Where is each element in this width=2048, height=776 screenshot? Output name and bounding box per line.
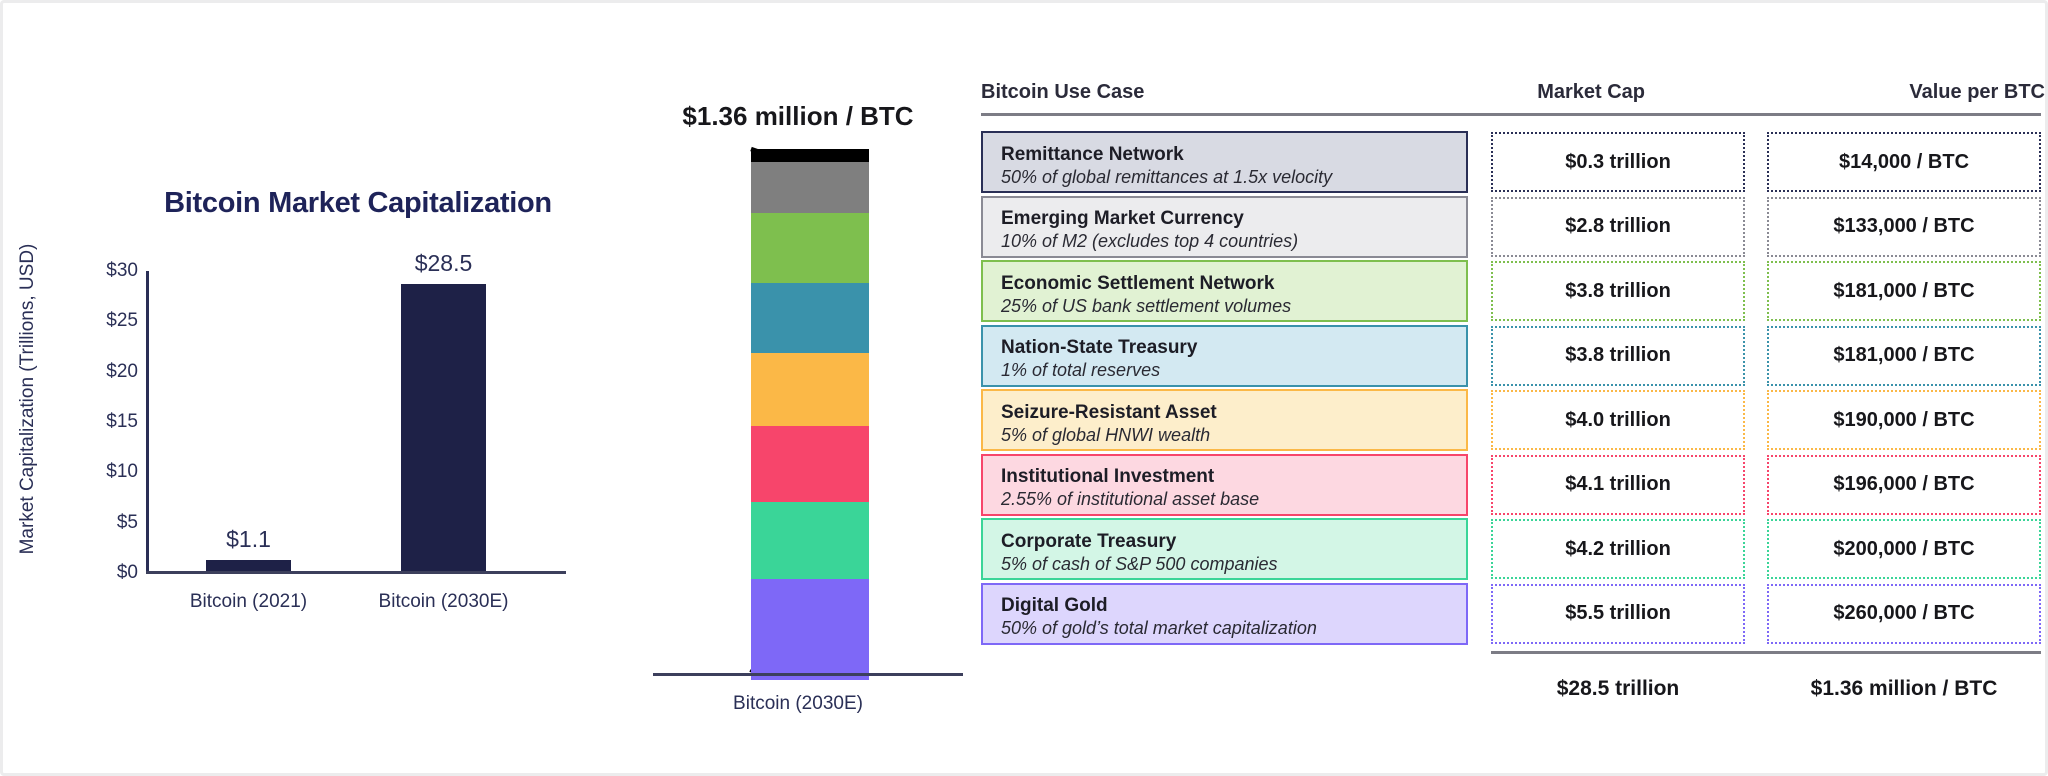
use-case-cell[interactable]: Seizure-Resistant Asset5% of global HNWI… <box>981 389 1468 451</box>
bar-1 <box>206 560 291 571</box>
y-tick-label: $25 <box>78 310 138 332</box>
table-row[interactable]: Nation-State Treasury1% of total reserve… <box>973 325 2048 387</box>
use-case-title: Corporate Treasury <box>1001 531 1466 552</box>
value-per-btc-cell: $14,000 / BTC <box>1767 132 2041 192</box>
market-cap-cell: $4.2 trillion <box>1491 519 1745 579</box>
use-case-subtitle: 25% of US bank settlement volumes <box>1001 296 1466 317</box>
table-row[interactable]: Economic Settlement Network25% of US ban… <box>973 260 2048 322</box>
use-case-title: Digital Gold <box>1001 595 1466 616</box>
use-case-subtitle: 50% of gold’s total market capitalizatio… <box>1001 618 1466 639</box>
value-per-btc-cell: $260,000 / BTC <box>1767 584 2041 644</box>
bar-2 <box>401 284 486 571</box>
table-header-use-case: Bitcoin Use Case <box>981 81 1144 104</box>
use-case-cell[interactable]: Corporate Treasury5% of cash of S&P 500 … <box>981 518 1468 580</box>
table-row[interactable]: Remittance Network50% of global remittan… <box>973 131 2048 193</box>
value-per-btc-cell: $181,000 / BTC <box>1767 326 2041 386</box>
stack-segment-8 <box>751 579 869 680</box>
value-per-btc-cell: $190,000 / BTC <box>1767 390 2041 450</box>
use-case-cell[interactable]: Institutional Investment2.55% of institu… <box>981 454 1468 516</box>
market-cap-cell: $2.8 trillion <box>1491 197 1745 257</box>
use-case-subtitle: 1% of total reserves <box>1001 360 1466 381</box>
market-cap-cell: $3.8 trillion <box>1491 261 1745 321</box>
y-axis-label: Market Capitalization (Trillions, USD) <box>17 189 39 609</box>
infographic-root: Bitcoin Market Capitalization Market Cap… <box>0 0 2048 776</box>
use-case-title: Remittance Network <box>1001 144 1466 165</box>
market-cap-cell: $0.3 trillion <box>1491 132 1745 192</box>
total-market-cap: $28.5 trillion <box>1491 671 1745 707</box>
use-case-title: Nation-State Treasury <box>1001 337 1466 358</box>
y-tick-label: $5 <box>78 512 138 534</box>
stack-segment-4 <box>751 283 869 353</box>
value-per-btc-cell: $196,000 / BTC <box>1767 455 2041 515</box>
market-cap-cell: $4.0 trillion <box>1491 390 1745 450</box>
y-tick-label: $30 <box>78 260 138 282</box>
y-axis-ticks: $30$25$20$15$10$5$0 <box>78 3 138 776</box>
stacked-bar-x-label: Bitcoin (2030E) <box>623 693 973 715</box>
y-tick-label: $10 <box>78 461 138 483</box>
y-tick-label: $0 <box>78 562 138 584</box>
table-row[interactable]: Seizure-Resistant Asset5% of global HNWI… <box>973 389 2048 451</box>
bar-value-label: $1.1 <box>166 526 331 553</box>
table-row[interactable]: Emerging Market Currency10% of M2 (exclu… <box>973 196 2048 258</box>
total-value-per-btc: $1.36 million / BTC <box>1767 671 2041 707</box>
y-tick-label: $20 <box>78 361 138 383</box>
use-case-subtitle: 10% of M2 (excludes top 4 countries) <box>1001 231 1466 252</box>
use-case-table: Bitcoin Use Case Market Cap Value per BT… <box>973 3 2048 776</box>
table-row[interactable]: Digital Gold50% of gold’s total market c… <box>973 583 2048 645</box>
market-cap-cell: $4.1 trillion <box>1491 455 1745 515</box>
use-case-cell[interactable]: Remittance Network50% of global remittan… <box>981 131 1468 193</box>
table-row[interactable]: Corporate Treasury5% of cash of S&P 500 … <box>973 518 2048 580</box>
stacked-bar-baseline <box>653 673 963 676</box>
use-case-cell[interactable]: Economic Settlement Network25% of US ban… <box>981 260 1468 322</box>
table-header-value-per-btc: Value per BTC <box>1385 81 2045 104</box>
use-case-title: Institutional Investment <box>1001 466 1466 487</box>
use-case-cell[interactable]: Digital Gold50% of gold’s total market c… <box>981 583 1468 645</box>
y-tick-label: $15 <box>78 411 138 433</box>
use-case-subtitle: 50% of global remittances at 1.5x veloci… <box>1001 167 1466 188</box>
use-case-title: Seizure-Resistant Asset <box>1001 402 1466 423</box>
use-case-subtitle: 5% of global HNWI wealth <box>1001 425 1466 446</box>
value-per-btc-cell: $200,000 / BTC <box>1767 519 2041 579</box>
stacked-bar <box>751 149 869 673</box>
use-case-subtitle: 5% of cash of S&P 500 companies <box>1001 554 1466 575</box>
table-header-divider <box>981 113 2041 116</box>
stack-segment-3 <box>751 213 869 283</box>
use-case-title: Emerging Market Currency <box>1001 208 1466 229</box>
stack-segment-2 <box>751 162 869 213</box>
x-category-label: Bitcoin (2021) <box>146 591 351 613</box>
table-row[interactable]: Institutional Investment2.55% of institu… <box>973 454 2048 516</box>
use-case-title: Economic Settlement Network <box>1001 273 1466 294</box>
stack-segment-5 <box>751 353 869 427</box>
table-total-divider <box>1491 651 2041 654</box>
stack-segment-7 <box>751 502 869 579</box>
market-cap-cell: $3.8 trillion <box>1491 326 1745 386</box>
value-per-btc-cell: $133,000 / BTC <box>1767 197 2041 257</box>
value-per-btc-cell: $181,000 / BTC <box>1767 261 2041 321</box>
use-case-cell[interactable]: Emerging Market Currency10% of M2 (exclu… <box>981 196 1468 258</box>
stacked-bar-breakdown: $1.36 million / BTC Bitcoin (2030E) <box>623 3 973 776</box>
market-cap-cell: $5.5 trillion <box>1491 584 1745 644</box>
use-case-subtitle: 2.55% of institutional asset base <box>1001 489 1466 510</box>
use-case-cell[interactable]: Nation-State Treasury1% of total reserve… <box>981 325 1468 387</box>
stacked-bar-title: $1.36 million / BTC <box>623 101 973 132</box>
stack-segment-6 <box>751 426 869 501</box>
